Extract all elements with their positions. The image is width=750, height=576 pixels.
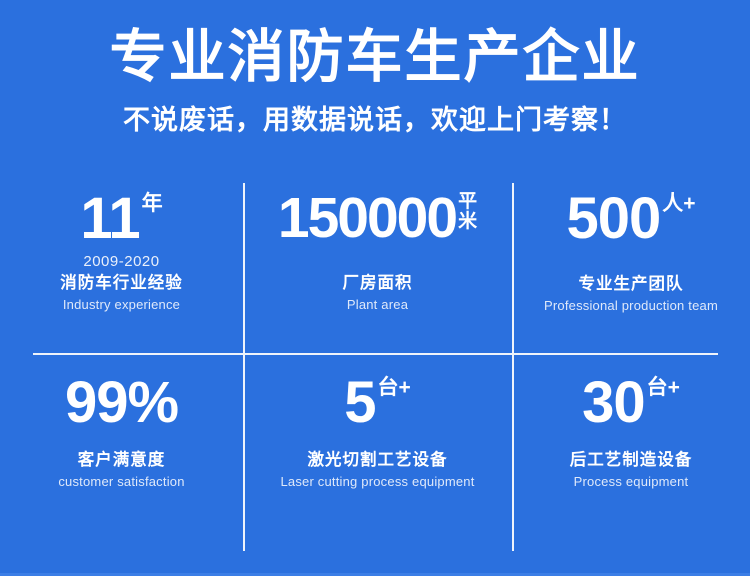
stat-figure: 500 人+	[566, 183, 695, 247]
page-title: 专业消防车生产企业	[0, 0, 750, 90]
banner-header: 专业消防车生产企业 不说废话，用数据说话，欢迎上门考察！	[0, 0, 750, 136]
stat-number: 30	[582, 375, 645, 431]
stat-label-cn: 客户满意度	[78, 431, 166, 471]
stat-figure: 99%	[65, 361, 178, 431]
grid-divider-horizontal	[33, 353, 718, 355]
stat-unit: 台+	[376, 375, 411, 399]
stat-number: 500	[566, 191, 660, 247]
stat-label-cn: 激光切割工艺设备	[308, 431, 448, 471]
stat-unit: 年	[140, 191, 163, 215]
stat-number: 5	[344, 375, 375, 431]
stat-label-en: Industry experience	[63, 294, 180, 314]
stat-cell-industry-experience: 11 年 2009-2020 消防车行业经验 Industry experien…	[0, 183, 243, 353]
stat-cell-customer-satisfaction: 99% 客户满意度 customer satisfaction	[0, 361, 243, 551]
stat-cell-laser-cutting-equipment: 5 台+ 激光切割工艺设备 Laser cutting process equi…	[243, 361, 512, 551]
stat-label-cn: 专业生产团队	[579, 247, 684, 295]
stat-label-en: Process equipment	[574, 471, 689, 491]
stat-figure: 150000 平 米	[278, 183, 477, 246]
stat-number: 99%	[65, 375, 178, 431]
promo-banner: 专业消防车生产企业 不说废话，用数据说话，欢迎上门考察！ 11 年 2009-2…	[0, 0, 750, 576]
stat-number: 150000	[278, 191, 456, 246]
stat-number: 11	[80, 191, 139, 247]
stat-unit-char-1: 平	[458, 192, 477, 212]
stat-unit-char-2: 米	[458, 212, 477, 232]
stat-unit: 平 米	[456, 191, 477, 232]
stats-row-top: 11 年 2009-2020 消防车行业经验 Industry experien…	[0, 183, 750, 353]
stat-unit: 人+	[660, 191, 695, 215]
stat-figure: 30 台+	[582, 361, 680, 431]
stat-figure: 5 台+	[344, 361, 411, 431]
stat-cell-process-equipment: 30 台+ 后工艺制造设备 Process equipment	[512, 361, 750, 551]
stat-label-en: customer satisfaction	[58, 471, 184, 491]
stat-label-cn: 消防车行业经验	[60, 271, 183, 294]
stats-row-bottom: 99% 客户满意度 customer satisfaction 5 台+ 激光切…	[0, 361, 750, 551]
stat-cell-production-team: 500 人+ 专业生产团队 Professional production te…	[512, 183, 750, 353]
page-subtitle: 不说废话，用数据说话，欢迎上门考察！	[0, 90, 750, 136]
stat-cell-plant-area: 150000 平 米 厂房面积 Plant area	[243, 183, 512, 353]
stat-label-en: Professional production team	[544, 295, 718, 315]
stat-label-cn: 后工艺制造设备	[570, 431, 693, 471]
stat-label-cn: 厂房面积	[343, 246, 413, 294]
stats-grid: 11 年 2009-2020 消防车行业经验 Industry experien…	[0, 183, 750, 551]
stat-year-range: 2009-2020	[83, 247, 159, 271]
stat-label-en: Laser cutting process equipment	[280, 471, 474, 491]
stat-label-en: Plant area	[347, 294, 408, 314]
stat-figure: 11 年	[80, 183, 162, 247]
stat-unit: 台+	[645, 375, 680, 399]
